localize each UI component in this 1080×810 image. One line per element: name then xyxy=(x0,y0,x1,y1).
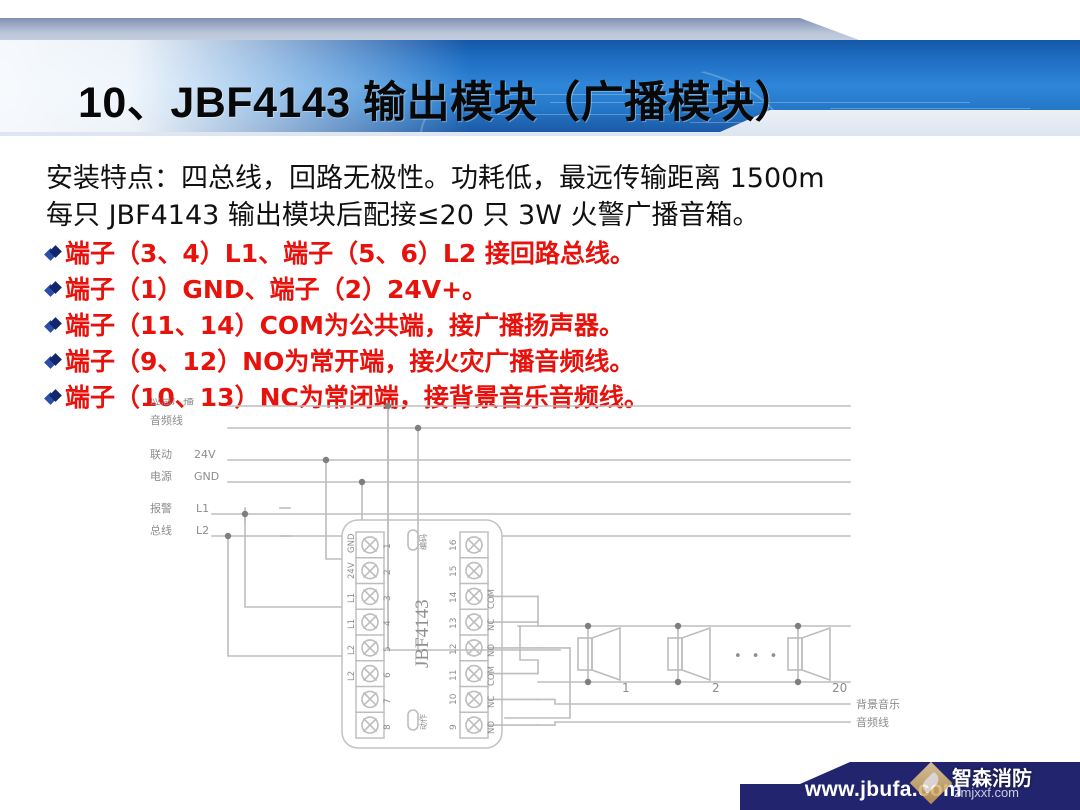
left-terminal-no-6: 6 xyxy=(383,672,393,678)
wire-no-down xyxy=(505,648,570,718)
footer: www.jbufa.com 智森消防 zmjxxf.com xyxy=(0,758,1080,810)
right-terminal-no-16: 16 xyxy=(449,539,459,551)
speaker-number-2: 2 xyxy=(712,681,720,695)
left-terminal-no-7: 7 xyxy=(383,698,393,704)
diagram-labels: 应急广播 音频线 联动 电源 报警 总线 24V GND L1 L2 JBF41… xyxy=(150,398,900,734)
left-terminal-no-4: 4 xyxy=(383,620,393,626)
bullet-text: 端子（11、14）COM为公共端，接广播扬声器。 xyxy=(65,309,624,343)
right-terminal-no-12: 12 xyxy=(449,644,459,655)
module-bottom-mark-label: 动作 xyxy=(418,714,428,730)
left-terminal-label-6: L2 xyxy=(347,671,357,681)
label-linkage-2: 电源 xyxy=(150,469,172,483)
speaker-ellipsis: • • • xyxy=(734,649,780,664)
right-terminal-no-14: 14 xyxy=(449,591,459,603)
wire-nc-to-bgm-a xyxy=(538,699,850,704)
wiring-diagram-svg: 应急广播 音频线 联动 电源 报警 总线 24V GND L1 L2 JBF41… xyxy=(150,398,940,758)
left-terminal-no-1: 1 xyxy=(383,543,393,549)
slide-root: 10、JBF4143 输出模块（广播模块） 安装特点：四总线，回路无极性。功耗低… xyxy=(0,0,1080,810)
list-item: 端子（11、14）COM为公共端，接广播扬声器。 xyxy=(46,309,946,343)
wire-com-rail-a xyxy=(538,596,588,626)
label-signal-gnd: GND xyxy=(194,470,219,483)
speaker-number-20: 20 xyxy=(832,681,847,695)
watermark: 智森消防 zmjxxf.com xyxy=(874,760,1074,806)
diamond-bullet-icon xyxy=(46,391,61,406)
label-linkage-1: 联动 xyxy=(150,448,172,461)
left-terminal-no-2: 2 xyxy=(383,569,393,575)
wiring-diagram: 应急广播 音频线 联动 电源 报警 总线 24V GND L1 L2 JBF41… xyxy=(150,398,940,758)
left-terminal-label-2: 24V xyxy=(347,562,357,579)
bullet-text: 端子（1）GND、端子（2）24V+。 xyxy=(65,273,487,307)
left-terminal-label-3: L1 xyxy=(347,593,357,603)
wire-nc-to-bgm-b xyxy=(538,722,850,725)
diamond-bullet-icon xyxy=(46,319,61,334)
header-banner: 10、JBF4143 输出模块（广播模块） xyxy=(0,0,1080,150)
label-signal-24v: 24V xyxy=(194,448,216,461)
right-terminal-label-13: NC xyxy=(487,619,497,631)
label-bgm-1: 背景音乐 xyxy=(856,697,900,711)
right-terminal-no-10: 10 xyxy=(449,693,459,705)
left-terminal-label-5: L2 xyxy=(347,645,357,655)
label-emergency-broadcast-1: 应急广播 xyxy=(150,398,194,407)
right-terminal-label-12: NO xyxy=(487,644,497,657)
diamond-bullet-icon xyxy=(46,283,61,298)
right-terminal-no-15: 15 xyxy=(449,566,459,577)
module-name-label: JBF4143 xyxy=(412,599,433,668)
left-terminal-no-3: 3 xyxy=(383,595,393,601)
label-signal-l2: L2 xyxy=(196,524,209,537)
label-alarm-2: 总线 xyxy=(150,523,172,537)
feature-line-1: 安装特点：四总线，回路无极性。功耗低，最远传输距离 1500m xyxy=(46,160,946,197)
wire-l2-to-t6 xyxy=(228,536,355,656)
page-title: 10、JBF4143 输出模块（广播模块） xyxy=(78,68,798,130)
right-terminal-label-11: COM xyxy=(487,666,497,686)
speaker-number-1: 1 xyxy=(622,681,630,695)
diamond-bullet-icon xyxy=(46,247,61,262)
label-emergency-broadcast-2: 音频线 xyxy=(150,413,183,427)
diamond-bullet-icon xyxy=(46,355,61,370)
right-terminal-label-10: NC xyxy=(487,696,497,708)
right-terminal-no-9: 9 xyxy=(449,724,459,730)
right-terminal-no-11: 11 xyxy=(449,670,459,681)
body-text-block: 安装特点：四总线，回路无极性。功耗低，最远传输距离 1500m 每只 JBF41… xyxy=(46,160,946,415)
speaker-symbols xyxy=(578,626,830,682)
bullet-text: 端子（3、4）L1、端子（5、6）L2 接回路总线。 xyxy=(65,237,635,271)
right-terminal-label-9: NO xyxy=(487,721,497,734)
watermark-brand-en: zmjxxf.com xyxy=(954,785,1019,800)
right-terminal-no-13: 13 xyxy=(449,618,459,629)
list-item: 端子（1）GND、端子（2）24V+。 xyxy=(46,273,946,307)
right-terminal-label-14: COM xyxy=(487,589,497,609)
left-terminal-label-1: GND xyxy=(347,533,357,553)
wire-l1-to-t4 xyxy=(245,514,355,607)
label-alarm-1: 报警 xyxy=(150,501,172,515)
watermark-logo-icon xyxy=(910,762,952,804)
left-terminal-no-5: 5 xyxy=(383,646,393,652)
left-terminal-label-4: L1 xyxy=(347,619,357,629)
left-terminal-no-8: 8 xyxy=(383,724,393,730)
list-item: 端子（3、4）L1、端子（5、6）L2 接回路总线。 xyxy=(46,237,946,271)
label-bgm-2: 音频线 xyxy=(856,715,889,729)
feature-line-2: 每只 JBF4143 输出模块后配接≤20 只 3W 火警广播音箱。 xyxy=(46,197,946,234)
bullet-text: 端子（9、12）NO为常开端，接火灾广播音频线。 xyxy=(65,345,634,379)
label-signal-l1: L1 xyxy=(196,502,209,515)
junction-dots xyxy=(225,403,801,685)
module-top-mark-label: 编码 xyxy=(418,534,428,550)
list-item: 端子（9、12）NO为常开端，接火灾广播音频线。 xyxy=(46,345,946,379)
